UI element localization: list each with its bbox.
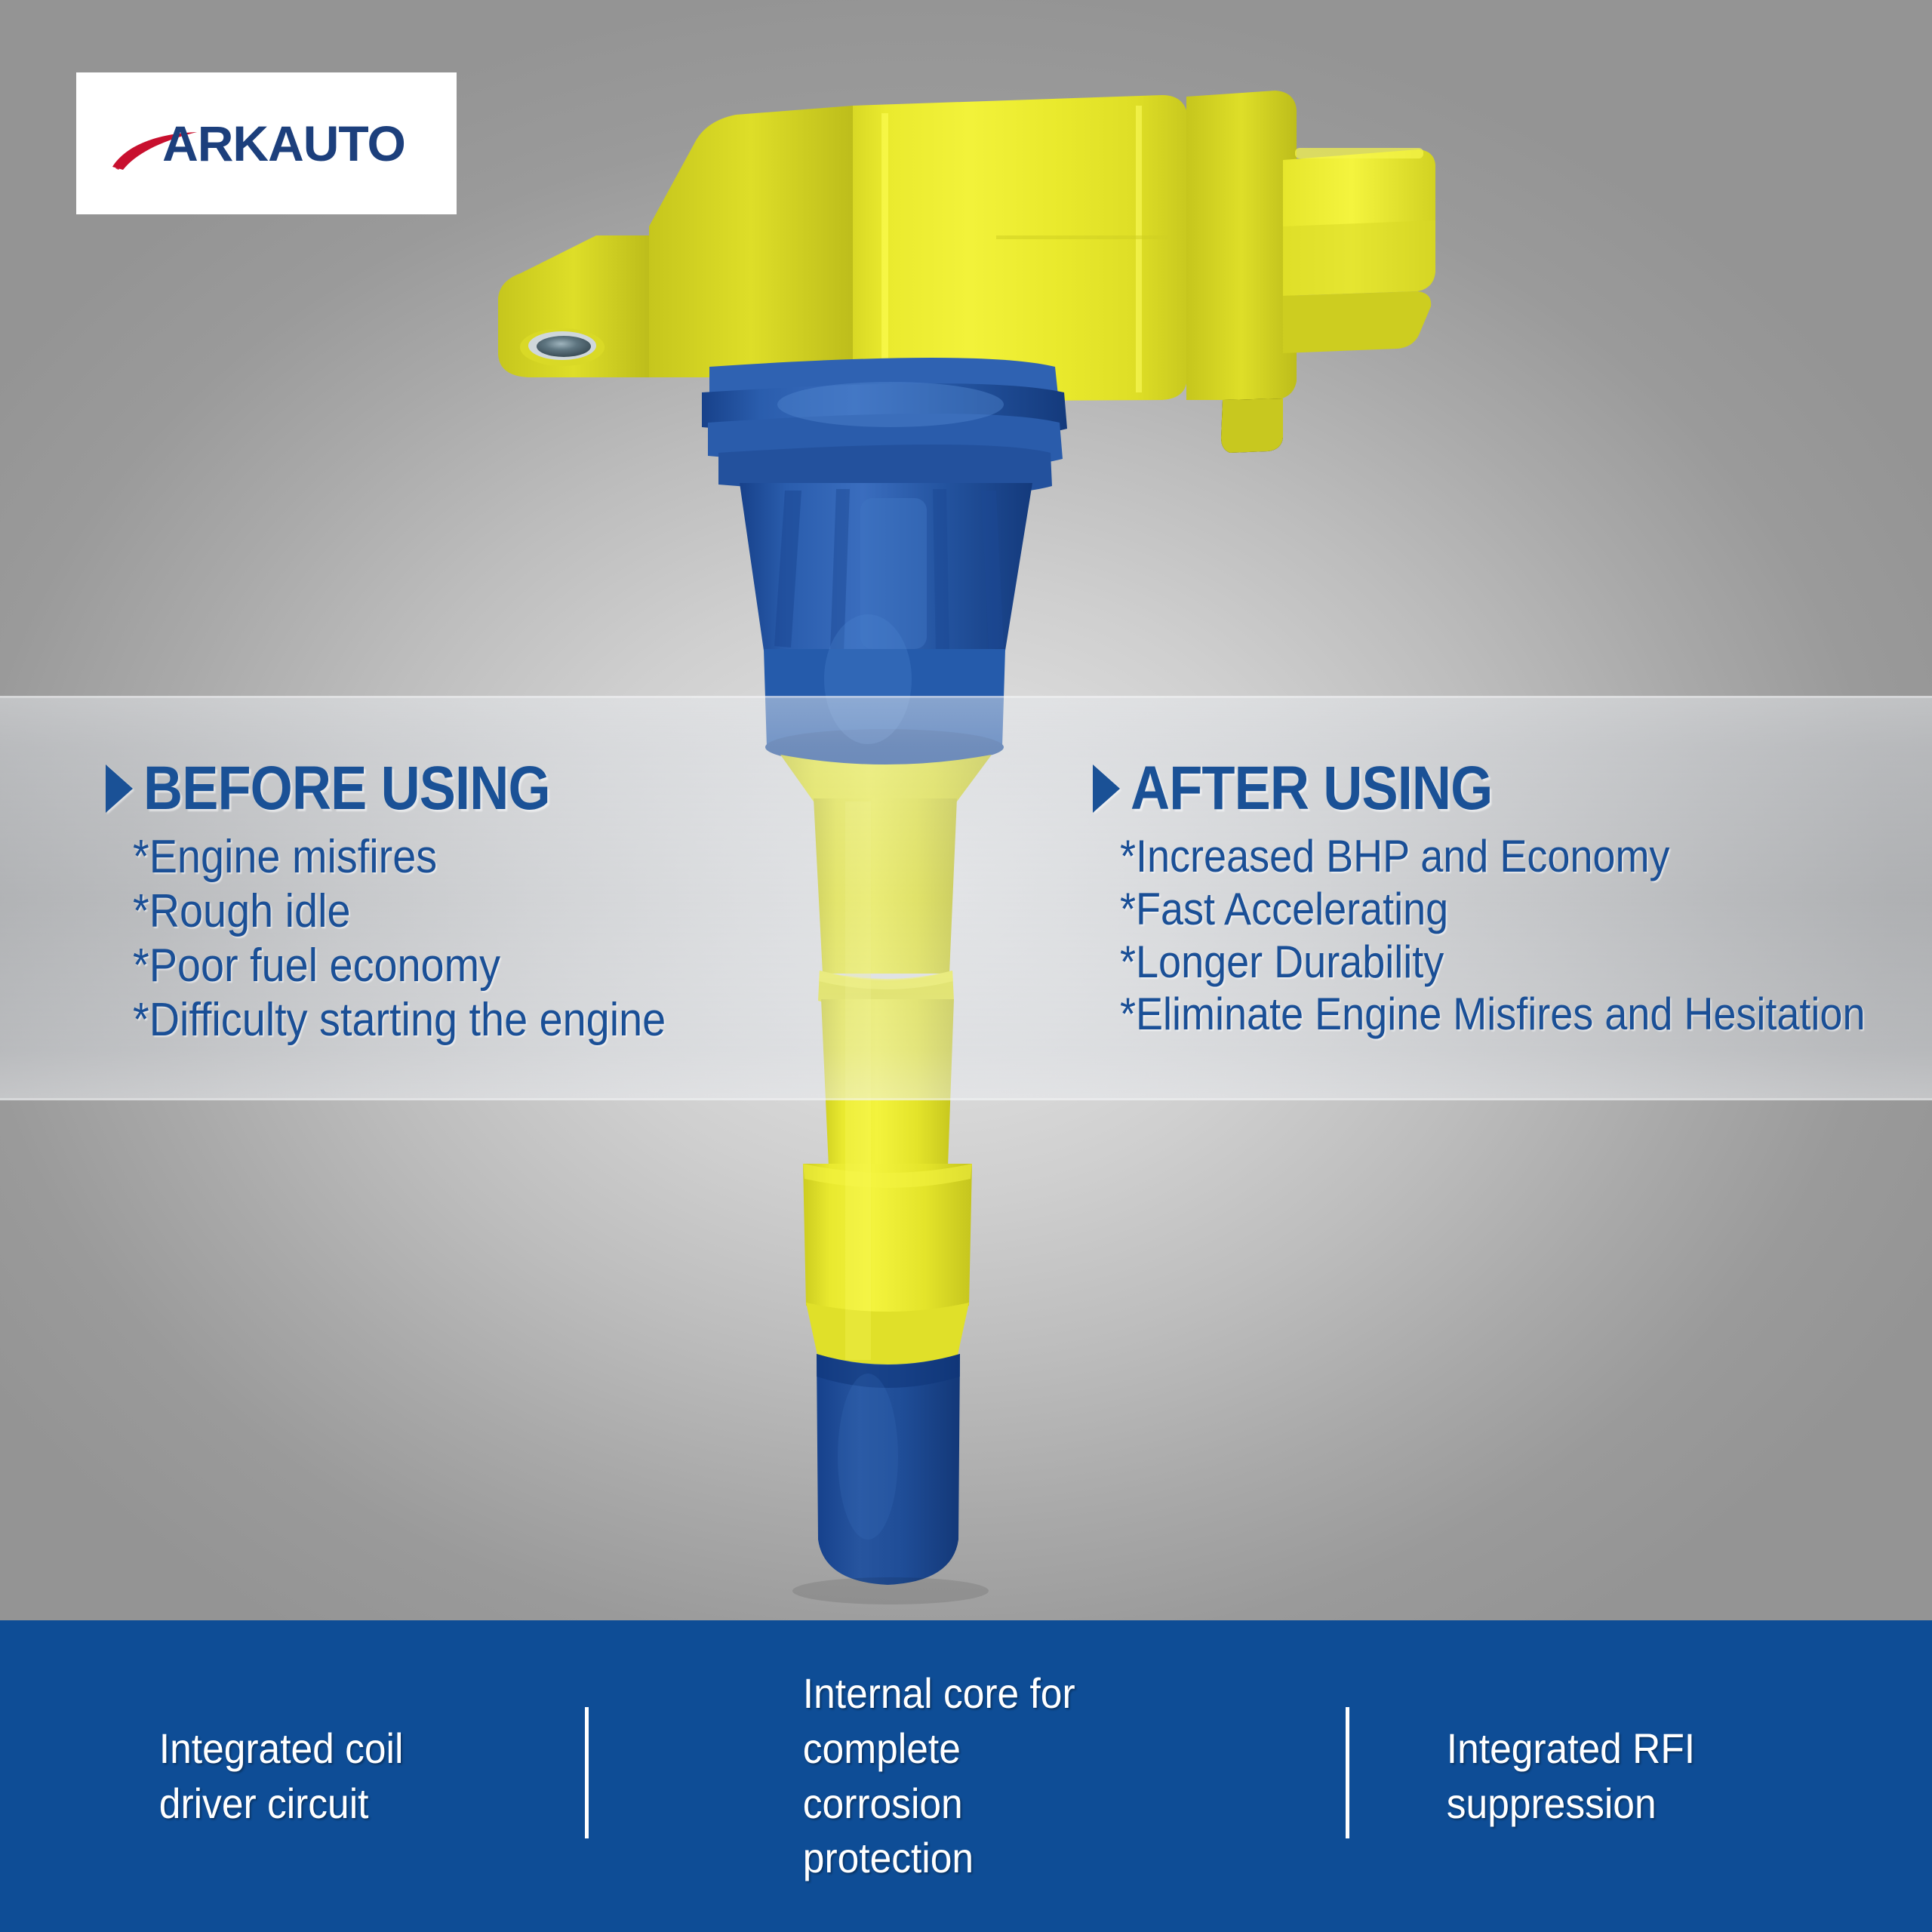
triangle-right-icon bbox=[1093, 764, 1120, 813]
feature-divider bbox=[1346, 1707, 1349, 1838]
feature-text: Integrated coil driver circuit bbox=[158, 1721, 485, 1832]
list-item: *Poor fuel economy bbox=[133, 939, 883, 993]
list-item: *Difficulty starting the engine bbox=[133, 993, 883, 1048]
list-item: *Longer Durability bbox=[1120, 936, 1850, 989]
triangle-right-icon bbox=[106, 764, 133, 813]
list-item: *Increased BHP and Economy bbox=[1120, 830, 1850, 883]
list-item: *Eliminate Engine Misfires and Hesitatio… bbox=[1120, 988, 1850, 1041]
after-using-column: AFTER USING *Increased BHP and Economy *… bbox=[1093, 698, 1930, 1041]
feature-text: Internal core for complete corrosion pro… bbox=[803, 1666, 1129, 1886]
list-item: *Rough idle bbox=[133, 884, 883, 939]
brand-logo: ARKAUTO bbox=[76, 72, 457, 214]
feature-divider bbox=[585, 1707, 589, 1838]
list-item: *Engine misfires bbox=[133, 830, 883, 884]
logo-text: ARKAUTO bbox=[162, 118, 405, 168]
feature-item-rfi: Integrated RFI suppression bbox=[1288, 1620, 1932, 1932]
feature-bar: Integrated coil driver circuit Internal … bbox=[0, 1620, 1932, 1932]
after-using-list: *Increased BHP and Economy *Fast Acceler… bbox=[1120, 830, 1930, 1040]
after-using-heading: AFTER USING bbox=[1131, 760, 1492, 817]
feature-item-corrosion: Internal core for complete corrosion pro… bbox=[644, 1620, 1287, 1932]
infographic-canvas: ARKAUTO BEFORE USING *Engine misfires *R… bbox=[0, 0, 1932, 1932]
feature-item-coil-driver: Integrated coil driver circuit bbox=[0, 1620, 644, 1932]
list-item: *Fast Accelerating bbox=[1120, 883, 1850, 936]
feature-text: Integrated RFI suppression bbox=[1447, 1721, 1773, 1832]
comparison-band: BEFORE USING *Engine misfires *Rough idl… bbox=[0, 696, 1932, 1100]
before-using-heading: BEFORE USING bbox=[143, 760, 550, 817]
before-using-column: BEFORE USING *Engine misfires *Rough idl… bbox=[106, 698, 966, 1048]
before-using-list: *Engine misfires *Rough idle *Poor fuel … bbox=[133, 830, 966, 1048]
